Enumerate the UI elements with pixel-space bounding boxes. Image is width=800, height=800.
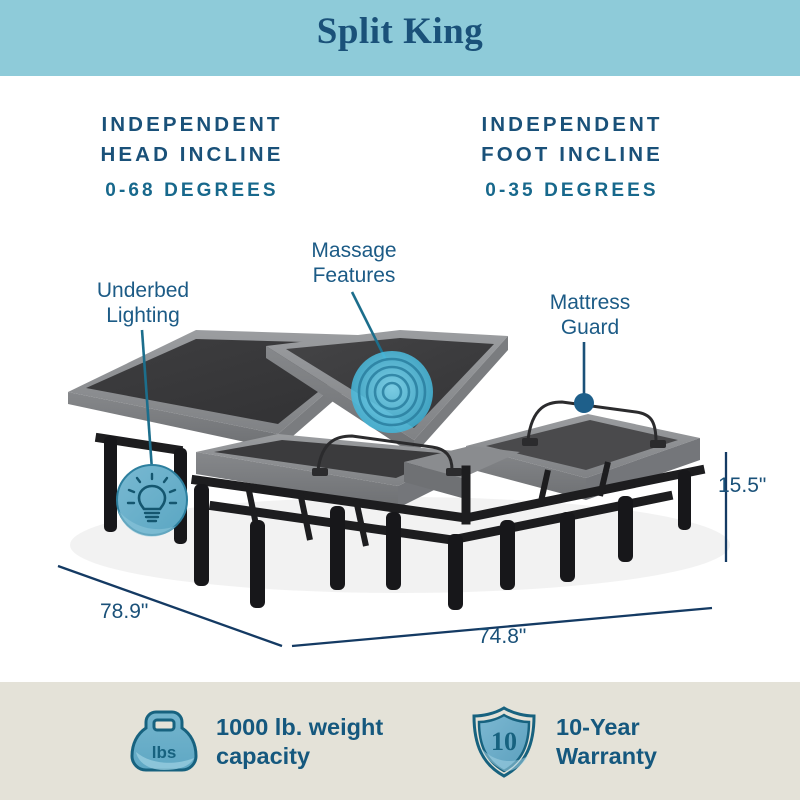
badge-warranty-label: 10-Year Warranty [556, 713, 657, 771]
leader-dot-icon [574, 393, 594, 413]
dimension-depth: 78.9" [100, 600, 148, 624]
massage-ripple-icon [351, 351, 433, 433]
kettlebell-icon: lbs [128, 704, 200, 780]
infographic-page: Split King INDEPENDENT HEAD INCLINE 0-68… [0, 0, 800, 800]
badge-warranty: 10 10-Year Warranty [468, 704, 657, 780]
lightbulb-icon [117, 465, 187, 537]
badge-weight-label: 1000 lb. weight capacity [216, 713, 383, 771]
dimension-width: 74.8" [478, 625, 526, 649]
footer-band [0, 682, 800, 800]
shield-icon-text: 10 [491, 727, 517, 756]
badge-weight-capacity: lbs 1000 lb. weight capacity [128, 704, 383, 780]
kettlebell-icon-text: lbs [152, 743, 177, 762]
dimension-height: 15.5" [718, 474, 766, 498]
shield-icon: 10 [468, 704, 540, 780]
product-illustration [0, 0, 800, 800]
